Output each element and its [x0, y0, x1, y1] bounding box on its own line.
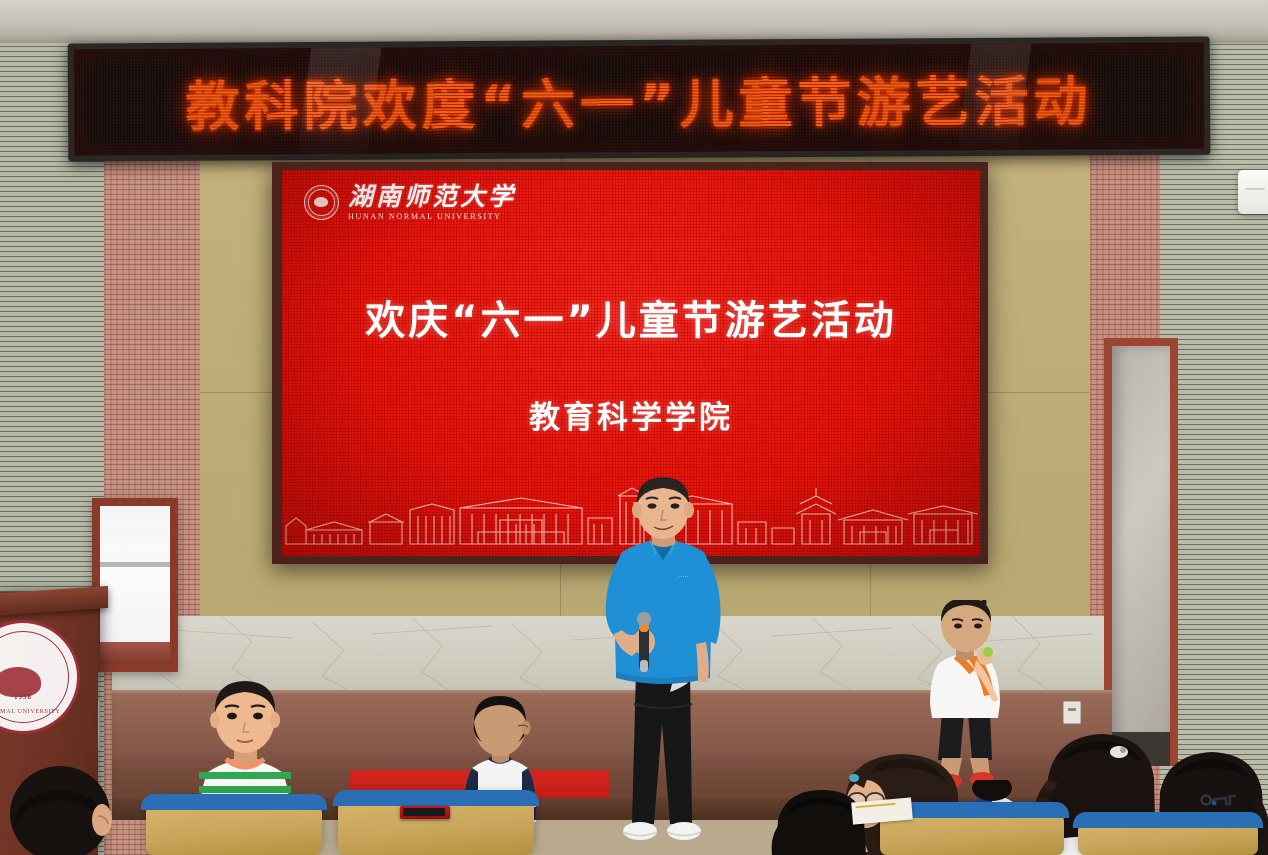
presenter-figure: ·····: [592, 474, 748, 855]
phone-on-stage: [400, 806, 450, 819]
university-logo: 湖南师范大学 HUNAN NORMAL UNIVERSITY: [304, 184, 516, 221]
wall-speaker-icon: [1238, 170, 1268, 214]
university-name-cn: 湖南师范大学: [348, 184, 516, 209]
university-seal-icon: [304, 185, 339, 220]
chair-back[interactable]: [146, 800, 322, 855]
slide-subtitle: 教育科学学院: [282, 392, 980, 437]
svg-text:·····: ·····: [678, 573, 689, 580]
power-outlet-icon: [1063, 701, 1081, 724]
audience-left-front-figure: [0, 758, 120, 855]
auditorium-scene: 教科院欢度“六一”儿童节游艺活动 湖南师范大学 HUNAN NORMAL UNI…: [0, 0, 1268, 855]
chair-rim: [141, 794, 327, 810]
chair-rim: [1073, 812, 1263, 828]
university-name-en: HUNAN NORMAL UNIVERSITY: [348, 213, 516, 221]
led-ticker-sign: 教科院欢度“六一”儿童节游艺活动: [68, 37, 1211, 162]
chair-back[interactable]: [338, 796, 534, 855]
chair-back[interactable]: [1078, 818, 1258, 855]
window-mullion: [100, 562, 170, 567]
slide-title: 欢庆“六一”儿童节游艺活动: [282, 288, 980, 346]
window-sill: [100, 642, 170, 664]
window: [92, 498, 178, 672]
seal-year: 1938: [0, 693, 77, 701]
doorway[interactable]: [1104, 338, 1178, 766]
seal-caption: NORMAL UNIVERSITY: [0, 709, 77, 715]
chair-rim: [333, 790, 539, 806]
led-ticker-text: 教科院欢度“六一”儿童节游艺活动: [185, 57, 1092, 142]
keys-on-stage: [1200, 792, 1240, 808]
